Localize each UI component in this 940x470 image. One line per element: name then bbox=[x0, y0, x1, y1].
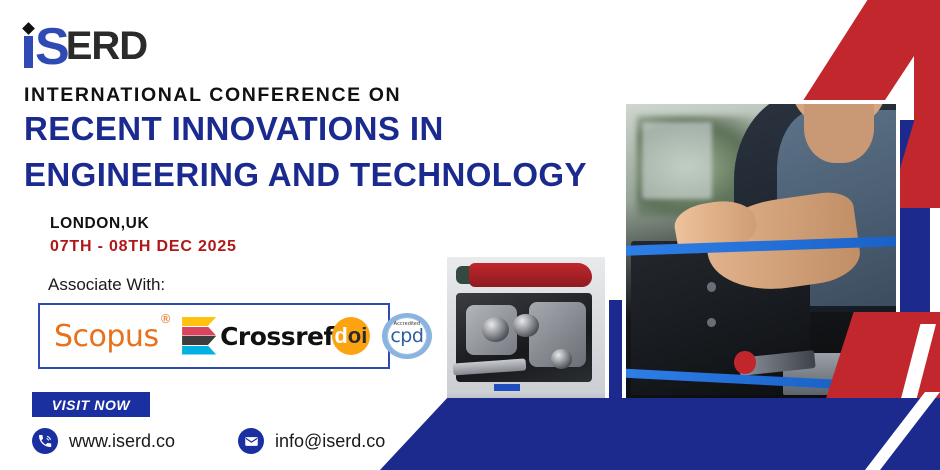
photo-engine-block-image bbox=[447, 257, 605, 406]
envelope-icon bbox=[238, 428, 264, 454]
logo-letter-i bbox=[22, 24, 36, 68]
doi-logo[interactable]: doi bbox=[332, 317, 370, 355]
conference-title-line2: ENGINEERING AND TECHNOLOGY bbox=[24, 156, 587, 194]
scopus-logo-text: Scopus bbox=[54, 319, 159, 354]
crossref-logo-text[interactable]: Crossref bbox=[220, 322, 334, 351]
scopus-registered-mark: ® bbox=[160, 312, 172, 326]
logo-diamond-dot-icon bbox=[22, 22, 35, 35]
logo-letter-s: S bbox=[35, 26, 68, 68]
associate-logos-box: Scopus® Crossref doi Accredited cpd bbox=[38, 303, 390, 369]
photo-engine-block bbox=[443, 253, 609, 410]
logo-i-stem bbox=[24, 36, 33, 68]
phone-icon bbox=[32, 428, 58, 454]
iserd-logo[interactable]: S ERD bbox=[22, 14, 147, 68]
cpd-accredited-logo[interactable]: Accredited cpd bbox=[382, 313, 432, 359]
scopus-logo[interactable]: Scopus® bbox=[54, 319, 170, 354]
event-location: LONDON,UK bbox=[50, 215, 149, 233]
email-contact[interactable]: info@iserd.co bbox=[238, 428, 385, 454]
associate-with-label: Associate With: bbox=[48, 275, 165, 295]
conference-title-line1: RECENT INNOVATIONS IN bbox=[24, 110, 444, 148]
visit-now-button[interactable]: VISIT NOW bbox=[32, 392, 150, 417]
website-contact[interactable]: www.iserd.co bbox=[32, 428, 175, 454]
conference-kicker: INTERNATIONAL CONFERENCE ON bbox=[24, 84, 401, 107]
bottom-blue-band bbox=[380, 398, 940, 470]
website-url: www.iserd.co bbox=[69, 431, 175, 452]
logo-letters-erd: ERD bbox=[66, 25, 147, 67]
conference-banner: S ERD INTERNATIONAL CONFERENCE ON RECENT… bbox=[0, 0, 940, 470]
cpd-logo-text: cpd bbox=[382, 327, 432, 346]
email-address: info@iserd.co bbox=[275, 431, 385, 452]
crossref-mark-icon bbox=[182, 317, 216, 355]
event-dates: 07TH - 08TH DEC 2025 bbox=[50, 238, 237, 256]
doi-letter-d: d bbox=[334, 325, 347, 347]
doi-letters-oi: oi bbox=[348, 325, 368, 347]
